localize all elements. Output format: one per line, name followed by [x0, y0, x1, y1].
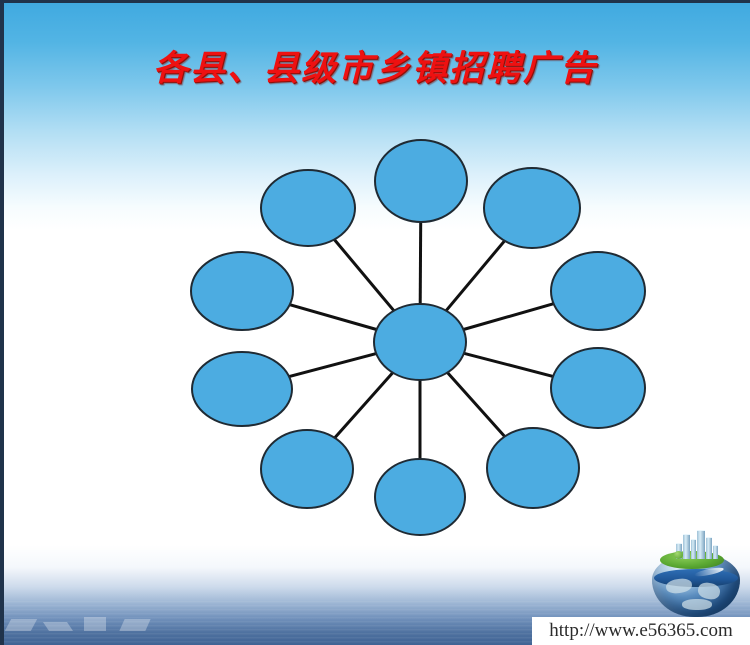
building-icon	[713, 545, 718, 559]
tree-icon	[674, 551, 683, 559]
spoke-line	[289, 354, 376, 377]
outer-node-n8[interactable]	[192, 352, 292, 426]
watermark-url: http://www.e56365.com	[532, 617, 750, 645]
outer-node-n7[interactable]	[261, 430, 353, 508]
spoke-line	[334, 240, 394, 311]
outer-node-n6[interactable]	[375, 459, 465, 535]
outer-node-n3[interactable]	[551, 252, 645, 330]
outer-node-n5[interactable]	[487, 428, 579, 508]
outer-node-n2[interactable]	[484, 168, 580, 248]
spoke-line	[464, 353, 553, 376]
diagram-svg	[0, 0, 750, 645]
spoke-line	[420, 222, 421, 304]
spoke-line	[464, 304, 554, 330]
slide-canvas: 各县、县级市乡镇招聘广告 http://www.e56365.com	[0, 0, 750, 645]
spoke-line	[447, 373, 504, 437]
outer-node-n10[interactable]	[261, 170, 355, 246]
radial-hub-diagram	[0, 0, 750, 645]
globe-city-logo	[648, 527, 744, 619]
spoke-line	[446, 241, 505, 311]
building-icon	[706, 537, 712, 559]
center-node-group	[374, 304, 466, 380]
building-icon	[683, 534, 690, 559]
spoke-line	[290, 305, 377, 330]
globe-landmass	[682, 599, 712, 610]
outer-node-n4[interactable]	[551, 348, 645, 428]
city-skyline	[674, 529, 718, 559]
building-icon	[691, 539, 696, 559]
outer-node-n1[interactable]	[375, 140, 467, 222]
center-node-center[interactable]	[374, 304, 466, 380]
outer-node-n9[interactable]	[191, 252, 293, 330]
building-icon	[697, 530, 705, 559]
spoke-line	[335, 373, 393, 438]
